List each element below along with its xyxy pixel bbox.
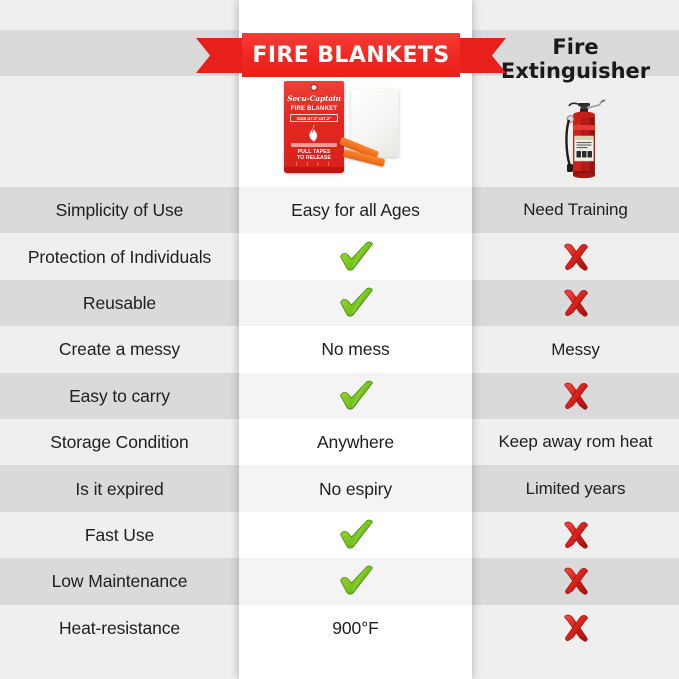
fire-extinguisher-value-cell [472,373,679,419]
pouch-tape-strip [291,143,337,147]
fire-blanket-value: No espiry [319,479,392,499]
fire-extinguisher-value-cell: Limited years [472,465,679,511]
feature-label: Reusable [83,293,156,313]
fire-blanket-product-image: Secu-Captain FIRE BLANKET SIZE:47.2"x47.… [239,76,472,186]
fire-blanket-value-cell: Anywhere [239,419,472,465]
pouch-size-label: SIZE:47.2"x47.2" [290,114,338,122]
feature-label-cell: Heat-resistance [0,605,239,651]
fire-blanket-value: 900°F [332,618,378,638]
fire-blankets-ribbon-header: FIRE BLANKETS [196,33,506,77]
feature-label-cell: Protection of Individuals [0,233,239,279]
ribbon-tail-right [452,38,506,73]
fire-blankets-title: FIRE BLANKETS [252,43,449,68]
comparison-row: Fast Use [0,512,679,558]
check-mark-icon [336,286,376,320]
pouch-brand-label: Secu-Captain [284,94,344,103]
comparison-row: Easy to carry [0,373,679,419]
fire-blanket-value-cell [239,280,472,326]
fire-extinguisher-title-line2: Extinguisher [501,60,650,84]
fire-extinguisher-value-cell [472,512,679,558]
fire-extinguisher-value: Keep away rom heat [498,432,652,452]
fire-extinguisher-value-cell [472,280,679,326]
fire-blanket-value-cell [239,512,472,558]
check-mark-icon [336,564,376,598]
pouch-hang-hole-icon [311,84,318,91]
fire-extinguisher-value-cell [472,605,679,651]
fire-blanket-value-cell: No mess [239,326,472,372]
feature-label: Protection of Individuals [28,247,211,267]
comparison-row: Is it expiredNo espiryLimited years [0,465,679,511]
fire-extinguisher-value-cell: Keep away rom heat [472,419,679,465]
fire-blanket-value: No mess [321,339,389,359]
fire-blanket-value: Easy for all Ages [291,200,420,220]
feature-label-cell: Is it expired [0,465,239,511]
fire-extinguisher-value-cell: Messy [472,326,679,372]
fire-extinguisher-value-cell [472,233,679,279]
comparison-row: Storage ConditionAnywhereKeep away rom h… [0,419,679,465]
feature-label: Storage Condition [50,432,188,452]
feature-label-cell: Create a messy [0,326,239,372]
fire-blanket-value-cell [239,558,472,604]
fire-blanket-value-cell: Easy for all Ages [239,187,472,233]
fire-blanket-value-cell: 900°F [239,605,472,651]
highlight-column-footer [239,651,472,679]
cross-mark-icon [556,379,596,413]
fire-extinguisher-value-cell: Need Training [472,187,679,233]
fire-blanket-value-cell [239,373,472,419]
feature-label: Simplicity of Use [56,200,184,220]
feature-label-cell: Fast Use [0,512,239,558]
fire-extinguisher-value-cell [472,558,679,604]
comparison-row: Heat-resistance900°F [0,605,679,651]
ribbon-body: FIRE BLANKETS [242,33,460,77]
comparison-row: Create a messyNo messMessy [0,326,679,372]
feature-label: Easy to carry [69,386,170,406]
fire-extinguisher-title-line1: Fire [552,36,598,60]
feature-label: Create a messy [59,339,180,359]
fire-blanket-value: Anywhere [317,432,394,452]
comparison-row: Simplicity of UseEasy for all AgesNeed T… [0,187,679,233]
feature-label: Heat-resistance [59,618,180,638]
fire-blanket-value-cell [239,233,472,279]
feature-label-cell: Storage Condition [0,419,239,465]
comparison-row: Protection of Individuals [0,233,679,279]
fire-extinguisher-image [556,92,606,182]
fire-blanket-pouch: Secu-Captain FIRE BLANKET SIZE:47.2"x47.… [284,81,344,173]
cross-mark-icon [556,611,596,645]
check-mark-icon [336,518,376,552]
comparison-chart: Secu-Captain FIRE BLANKET SIZE:47.2"x47.… [0,0,679,679]
feature-label-cell: Low Maintenance [0,558,239,604]
feature-label: Is it expired [75,479,163,499]
check-mark-icon [336,240,376,274]
pouch-base [284,167,344,173]
fire-extinguisher-value: Messy [551,340,600,360]
fire-extinguisher-value: Limited years [526,479,626,499]
pouch-product-label: FIRE BLANKET [284,106,344,112]
feature-label-cell: Reusable [0,280,239,326]
cross-mark-icon [556,240,596,274]
flame-icon [306,124,322,145]
feature-label-cell: Simplicity of Use [0,187,239,233]
fire-extinguisher-value: Need Training [523,200,628,220]
fire-blanket-value-cell: No espiry [239,465,472,511]
cross-mark-icon [556,564,596,598]
feature-label: Low Maintenance [52,571,188,591]
check-mark-icon [336,379,376,413]
feature-label-cell: Easy to carry [0,373,239,419]
comparison-row: Reusable [0,280,679,326]
cross-mark-icon [556,518,596,552]
comparison-row: Low Maintenance [0,558,679,604]
feature-label: Fast Use [85,525,154,545]
cross-mark-icon [556,286,596,320]
